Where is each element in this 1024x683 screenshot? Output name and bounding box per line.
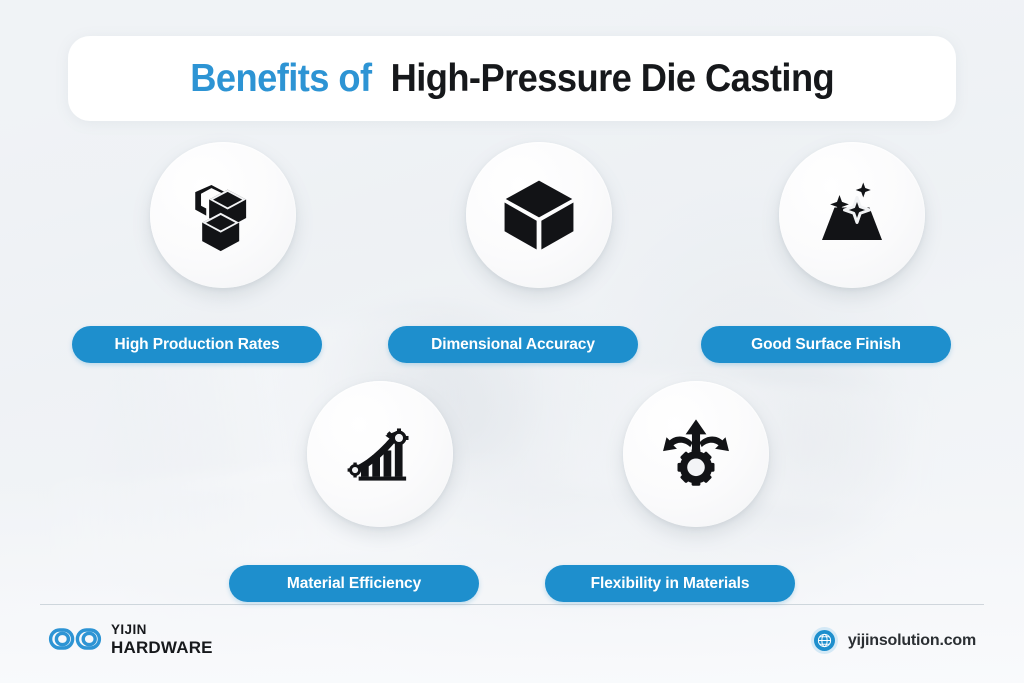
benefit-icon-circle: [307, 381, 453, 527]
brand-name-bottom: HARDWARE: [111, 639, 213, 656]
benefit-icon-circle: [150, 142, 296, 288]
benefit-label: Good Surface Finish: [751, 336, 901, 354]
benefit-card-flexibility-in-materials[interactable]: Flexibility in Materials: [597, 381, 795, 602]
yijin-infinity-logo-icon: [48, 624, 102, 654]
benefit-label: Flexibility in Materials: [591, 575, 750, 593]
brand-wordmark: YIJIN HARDWARE: [111, 623, 213, 656]
website-url: yijinsolution.com: [848, 632, 976, 650]
globe-icon-inner: [814, 630, 835, 651]
benefit-icon-circle: [623, 381, 769, 527]
benefit-icon-circle: [779, 142, 925, 288]
benefit-card-dimensional-accuracy[interactable]: Dimensional Accuracy: [440, 142, 638, 363]
page-title: Benefits of High-Pressure Die Casting: [190, 57, 834, 101]
shiny-ingot-icon: [812, 175, 892, 255]
benefit-card-material-efficiency[interactable]: Material Efficiency: [281, 381, 479, 602]
benefit-label-pill[interactable]: Flexibility in Materials: [545, 565, 795, 602]
benefit-card-good-surface-finish[interactable]: Good Surface Finish: [753, 142, 951, 363]
brand-logo[interactable]: YIJIN HARDWARE: [48, 623, 213, 656]
globe-icon: [811, 627, 838, 654]
benefit-label-pill[interactable]: Dimensional Accuracy: [388, 326, 638, 363]
benefit-label: High Production Rates: [115, 336, 280, 354]
benefit-label-pill[interactable]: Material Efficiency: [229, 565, 479, 602]
benefit-label-pill[interactable]: High Production Rates: [72, 326, 322, 363]
page-title-accent: Benefits of: [190, 57, 371, 100]
brand-name-top: YIJIN: [111, 623, 213, 637]
benefit-label-pill[interactable]: Good Surface Finish: [701, 326, 951, 363]
benefit-label: Dimensional Accuracy: [431, 336, 595, 354]
stacked-cubes-icon: [186, 178, 260, 252]
infographic-canvas: Benefits of High-Pressure Die Casting: [0, 0, 1024, 683]
gear-arrows-icon: [659, 417, 733, 491]
cube-icon: [501, 177, 577, 253]
growth-chart-gears-icon: [342, 416, 418, 492]
website-link[interactable]: yijinsolution.com: [811, 627, 976, 654]
footer: YIJIN HARDWARE yijinsolution.com: [0, 605, 1024, 683]
benefit-icon-circle: [466, 142, 612, 288]
title-banner: Benefits of High-Pressure Die Casting: [68, 36, 956, 121]
benefit-label: Material Efficiency: [287, 575, 421, 593]
page-title-main: High-Pressure Die Casting: [390, 57, 834, 100]
benefit-card-high-production-rates[interactable]: High Production Rates: [124, 142, 322, 363]
